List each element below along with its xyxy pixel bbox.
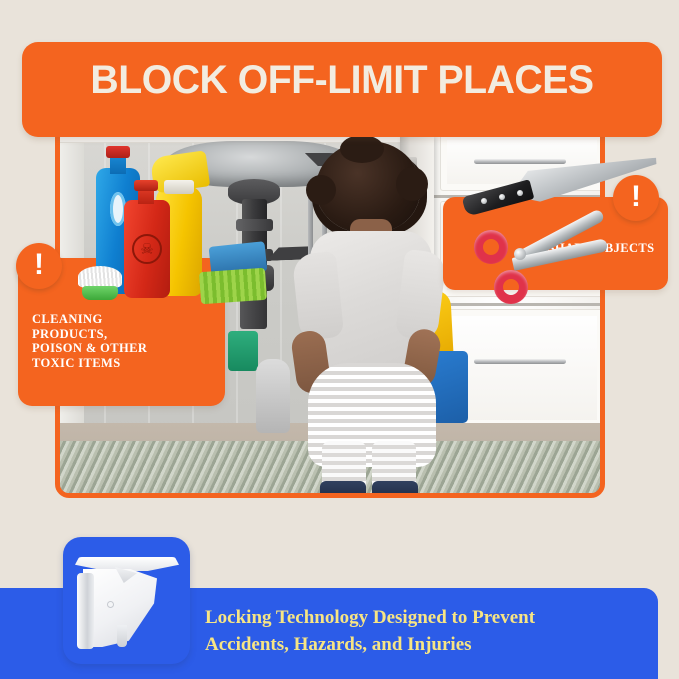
lock-foot	[117, 625, 127, 647]
scrub-brush	[78, 266, 122, 300]
footer-tagline-line2: Accidents, Hazards, and Injuries	[205, 631, 625, 658]
knife-rivet-2	[499, 194, 505, 200]
brush-handle	[82, 286, 118, 300]
cleaning-products-group: ☠	[60, 148, 300, 338]
grey-bottle	[256, 359, 290, 433]
hair-curl-top	[340, 135, 384, 163]
sponge-green	[199, 268, 267, 305]
scissors-ring-upper	[474, 230, 508, 264]
toddler-sock-right	[372, 481, 418, 493]
knife-rivet-3	[517, 190, 523, 196]
drawer-handle-bottom	[474, 359, 566, 364]
lock-screw-hole	[107, 601, 114, 608]
knife-rivet-1	[481, 198, 487, 204]
page-title: BLOCK OFF-LIMIT PLACES	[28, 58, 655, 103]
poison-warning-icon: ☠	[132, 234, 162, 264]
promo-graphic: BLOCK OFF-LIMIT PLACES	[0, 0, 679, 679]
warning-badge-left: !	[16, 243, 62, 289]
brush-bristles	[78, 266, 122, 288]
scissors-pivot	[514, 248, 526, 260]
toddler	[288, 141, 448, 486]
title-banner: BLOCK OFF-LIMIT PLACES	[22, 42, 662, 137]
poison-bottle-cap	[134, 180, 158, 191]
lock-icon-tile	[63, 537, 190, 664]
spray-collar	[164, 180, 194, 194]
scissors	[478, 208, 618, 328]
warning-badge-right: !	[613, 175, 659, 221]
footer-tagline-line1: Locking Technology Designed to Prevent	[205, 604, 625, 631]
hair-curl-left	[306, 175, 336, 205]
hair-curl-right	[396, 167, 428, 201]
cabinet-lock-icon	[73, 551, 181, 651]
toddler-sock-left	[320, 481, 366, 493]
exclamation-icon: !	[613, 175, 659, 221]
scissors-ring-lower	[494, 270, 528, 304]
lock-latch-bar	[77, 573, 94, 649]
exclamation-icon: !	[16, 243, 62, 289]
lock-arm	[75, 557, 179, 571]
bleach-bottle-cap	[106, 146, 130, 158]
